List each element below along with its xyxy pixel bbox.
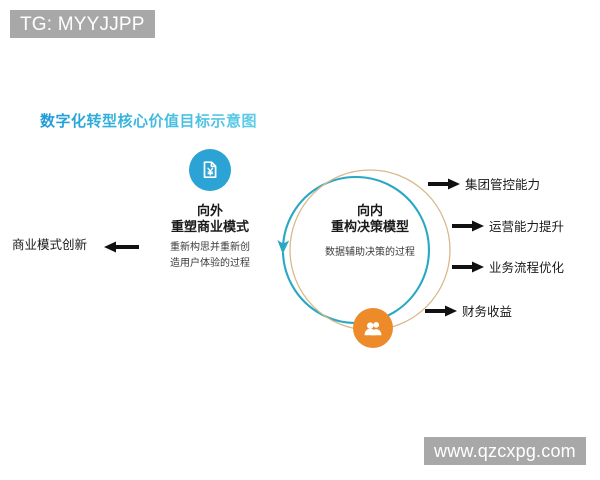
- left-sub-line1: 重新构思并重新创: [140, 240, 280, 256]
- right-circle-text: 向内 重构决策模型 数据辅助决策的过程: [300, 203, 440, 260]
- arrow-right-icon-3: [425, 306, 457, 317]
- arrow-right-icon-0: [428, 179, 460, 190]
- two-people-badge: [353, 308, 393, 348]
- outcome-label-1: 运营能力提升: [489, 221, 564, 234]
- right-sub-line1: 数据辅助决策的过程: [300, 245, 440, 261]
- outcome-label-0: 集团管控能力: [465, 179, 540, 192]
- outcome-label-3: 财务收益: [462, 306, 512, 319]
- slide-canvas: TG: MYYJJPP 数字化转型核心价值目标示意图: [0, 0, 600, 480]
- left-heading-line2: 重塑商业模式: [140, 219, 280, 235]
- document-yen-icon: [198, 158, 222, 182]
- right-heading-line2: 重构决策模型: [300, 219, 440, 235]
- left-sub-line2: 造用户体验的过程: [140, 256, 280, 272]
- document-yen-badge: [189, 149, 231, 191]
- left-circle-text: 向外 重塑商业模式 重新构思并重新创 造用户体验的过程: [140, 203, 280, 272]
- outcome-label-2: 业务流程优化: [489, 262, 564, 275]
- watermark-bottom-right: www.qzcxpg.com: [424, 437, 586, 465]
- left-heading-line1: 向外: [140, 203, 280, 219]
- two-people-icon: [362, 317, 385, 340]
- arrow-right-icon-1: [452, 221, 484, 232]
- arrow-right-icon-2: [452, 262, 484, 273]
- right-heading-line1: 向内: [300, 203, 440, 219]
- outcome-label-left: 商业模式创新: [12, 239, 87, 252]
- arrow-left-icon: [104, 242, 139, 253]
